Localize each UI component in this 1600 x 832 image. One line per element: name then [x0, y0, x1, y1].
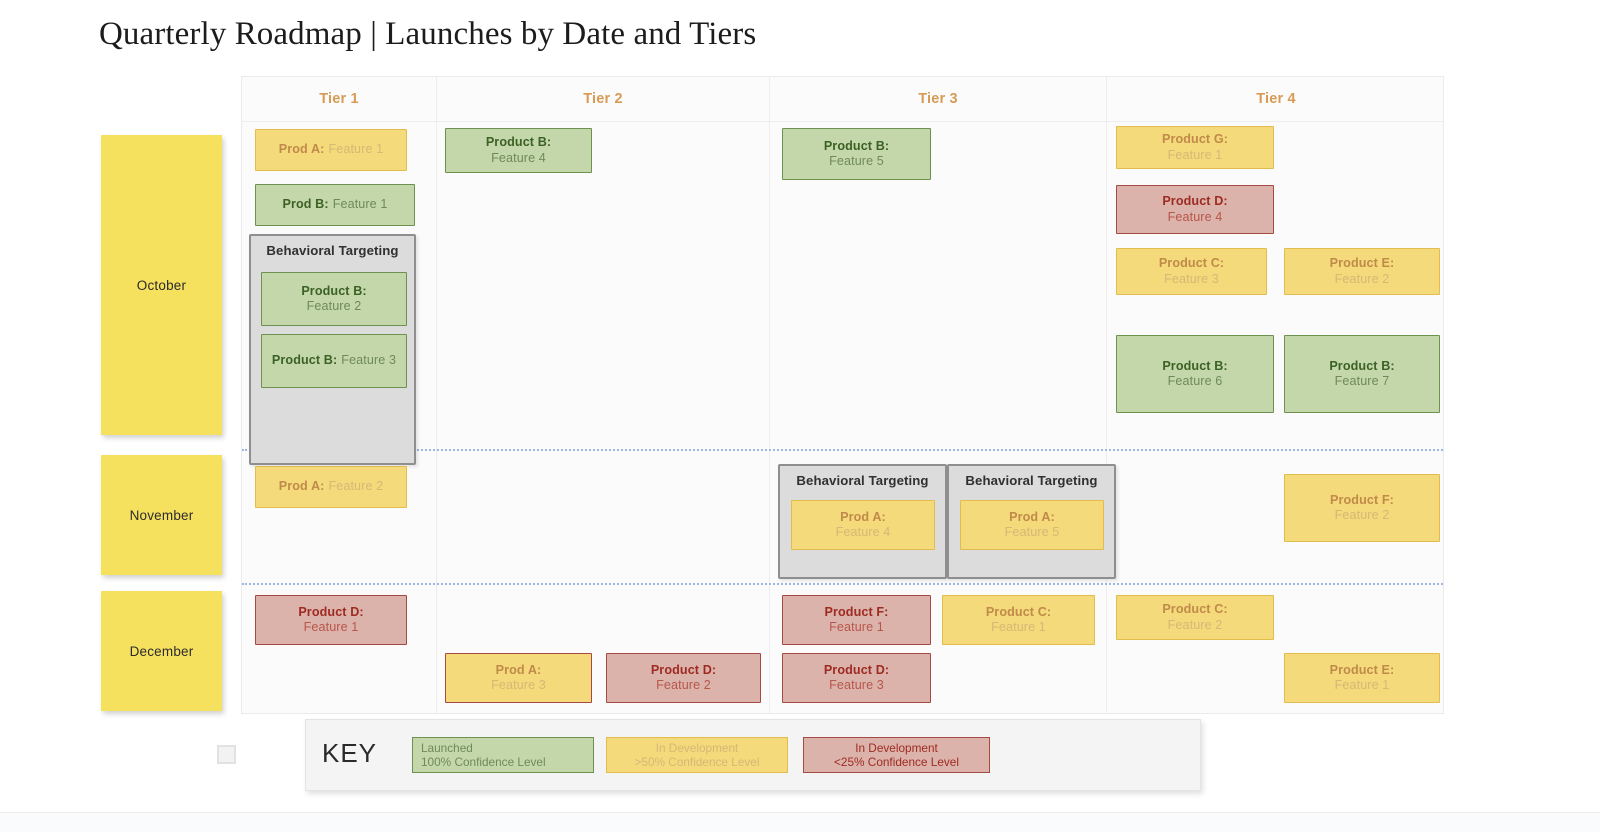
column-divider-2: [769, 77, 770, 713]
card-product-g-feature-1[interactable]: Product G: Feature 1: [1116, 126, 1274, 169]
card-prod-a-feature-4[interactable]: Prod A: Feature 4: [791, 500, 935, 550]
card-product-b-feature-2[interactable]: Product B: Feature 2: [261, 272, 407, 326]
card-prod-a-feature-1[interactable]: Prod A: Feature 1: [255, 129, 407, 171]
card-feature: Feature 5: [1005, 525, 1060, 541]
card-product-d-feature-3[interactable]: Product D: Feature 3: [782, 653, 931, 703]
group-title: Behavioral Targeting: [251, 236, 414, 266]
card-product: Prod A:: [1009, 510, 1055, 526]
card-product: Product D:: [824, 663, 889, 679]
card-feature: Feature 1: [829, 620, 884, 636]
card-feature: Feature 5: [829, 154, 884, 170]
card-product: Prod A:: [496, 663, 542, 679]
card-product: Product D:: [1162, 194, 1227, 210]
card-product: Product B:: [1329, 359, 1394, 375]
card-product: Product B:: [824, 139, 889, 155]
tier-header-row: Tier 1 Tier 2 Tier 3 Tier 4: [242, 77, 1443, 122]
card-product: Prod A:: [279, 142, 325, 158]
row-divider-october-november: [242, 449, 1443, 451]
card-feature: Feature 7: [1335, 374, 1390, 390]
card-product-f-feature-1[interactable]: Product F: Feature 1: [782, 595, 931, 645]
card-product: Product B:: [486, 135, 551, 151]
card-product-d-feature-1[interactable]: Product D: Feature 1: [255, 595, 407, 645]
behavioral-targeting-group-tier1-october[interactable]: Behavioral Targeting Product B: Feature …: [249, 234, 416, 465]
behavioral-targeting-group-tier3-november-a[interactable]: Behavioral Targeting Prod A: Feature 4: [778, 464, 947, 579]
card-product-b-feature-6[interactable]: Product B: Feature 6: [1116, 335, 1274, 413]
key-item-line1: In Development: [656, 741, 739, 755]
card-product: Product B:: [272, 353, 337, 369]
card-prod-a-feature-2[interactable]: Prod A: Feature 2: [255, 466, 407, 508]
card-feature: Feature 2: [656, 678, 711, 694]
column-divider-3: [1106, 77, 1107, 713]
column-divider-1: [436, 77, 437, 713]
card-prod-a-feature-5[interactable]: Prod A: Feature 5: [960, 500, 1104, 550]
card-product: Product E:: [1330, 663, 1395, 679]
group-title: Behavioral Targeting: [780, 466, 945, 496]
key-item-line1: In Development: [855, 741, 938, 755]
card-product: Product D:: [651, 663, 716, 679]
card-product: Product G:: [1162, 132, 1228, 148]
card-product-d-feature-4[interactable]: Product D: Feature 4: [1116, 185, 1274, 234]
card-product-d-feature-2[interactable]: Product D: Feature 2: [606, 653, 761, 703]
key-item-launched[interactable]: Launched 100% Confidence Level: [412, 737, 594, 773]
key-item-line2: <25% Confidence Level: [834, 755, 959, 769]
card-product: Product B:: [1162, 359, 1227, 375]
card-feature: Feature 4: [491, 151, 546, 167]
card-feature: Feature 4: [836, 525, 891, 541]
card-product: Product E:: [1330, 256, 1395, 272]
card-product: Product D:: [298, 605, 363, 621]
card-feature: Feature 2: [1168, 618, 1223, 634]
card-product: Prod B:: [283, 197, 329, 213]
bottom-strip: [0, 812, 1600, 832]
card-product-c-feature-2[interactable]: Product C: Feature 2: [1116, 595, 1274, 640]
card-feature: Feature 1: [991, 620, 1046, 636]
tier-header-4[interactable]: Tier 4: [1107, 77, 1445, 122]
card-feature: Feature 1: [304, 620, 359, 636]
card-feature: Feature 2: [1335, 508, 1390, 524]
card-product-e-feature-1[interactable]: Product E: Feature 1: [1284, 653, 1440, 703]
tier-header-1[interactable]: Tier 1: [242, 77, 436, 122]
card-product-b-feature-5[interactable]: Product B: Feature 5: [782, 128, 931, 180]
key-checkbox[interactable]: [217, 745, 236, 764]
card-feature: Feature 3: [1164, 272, 1219, 288]
card-product-f-feature-2[interactable]: Product F: Feature 2: [1284, 474, 1440, 542]
card-product: Product C:: [1159, 256, 1224, 272]
card-feature: Feature 1: [333, 197, 388, 213]
key-item-line1: Launched: [421, 741, 473, 755]
key-item-in-development-25[interactable]: In Development <25% Confidence Level: [803, 737, 990, 773]
card-product-e-feature-2[interactable]: Product E: Feature 2: [1284, 248, 1440, 295]
month-note-november[interactable]: November: [101, 455, 222, 575]
card-prod-b-feature-1[interactable]: Prod B: Feature 1: [255, 184, 415, 226]
card-product-b-feature-7[interactable]: Product B: Feature 7: [1284, 335, 1440, 413]
card-feature: Feature 1: [328, 142, 383, 158]
card-feature: Feature 2: [1335, 272, 1390, 288]
key-item-line2: >50% Confidence Level: [635, 755, 760, 769]
card-product: Prod A:: [279, 479, 325, 495]
card-feature: Feature 1: [1168, 148, 1223, 164]
card-product: Product F:: [1330, 493, 1394, 509]
row-divider-november-december: [242, 583, 1443, 585]
card-feature: Feature 3: [491, 678, 546, 694]
key-item-in-development-50[interactable]: In Development >50% Confidence Level: [606, 737, 788, 773]
card-product: Product B:: [301, 284, 366, 300]
key-panel: KEY Launched 100% Confidence Level In De…: [305, 719, 1201, 791]
card-feature: Feature 2: [307, 299, 362, 315]
month-note-december[interactable]: December: [101, 591, 222, 711]
roadmap-board: Tier 1 Tier 2 Tier 3 Tier 4 Prod A: Feat…: [241, 76, 1444, 714]
card-feature: Feature 3: [341, 353, 396, 369]
card-feature: Feature 6: [1168, 374, 1223, 390]
card-product-c-feature-1[interactable]: Product C: Feature 1: [942, 595, 1095, 645]
card-product: Product F:: [825, 605, 889, 621]
card-feature: Feature 2: [328, 479, 383, 495]
card-prod-a-feature-3[interactable]: Prod A: Feature 3: [445, 653, 592, 703]
card-product: Product C:: [1162, 602, 1227, 618]
tier-header-3[interactable]: Tier 3: [770, 77, 1106, 122]
month-note-october[interactable]: October: [101, 135, 222, 435]
card-feature: Feature 3: [829, 678, 884, 694]
behavioral-targeting-group-tier3-november-b[interactable]: Behavioral Targeting Prod A: Feature 5: [947, 464, 1116, 579]
card-product: Prod A:: [840, 510, 886, 526]
tier-header-2[interactable]: Tier 2: [437, 77, 769, 122]
group-title: Behavioral Targeting: [949, 466, 1114, 496]
key-item-line2: 100% Confidence Level: [421, 755, 546, 769]
card-feature: Feature 4: [1168, 210, 1223, 226]
card-product-c-feature-3[interactable]: Product C: Feature 3: [1116, 248, 1267, 295]
page-title: Quarterly Roadmap | Launches by Date and…: [99, 16, 756, 53]
key-label: KEY: [322, 738, 377, 769]
card-product: Product C:: [986, 605, 1051, 621]
card-feature: Feature 1: [1335, 678, 1390, 694]
card-product-b-feature-3[interactable]: Product B: Feature 3: [261, 334, 407, 388]
card-product-b-feature-4[interactable]: Product B: Feature 4: [445, 128, 592, 173]
